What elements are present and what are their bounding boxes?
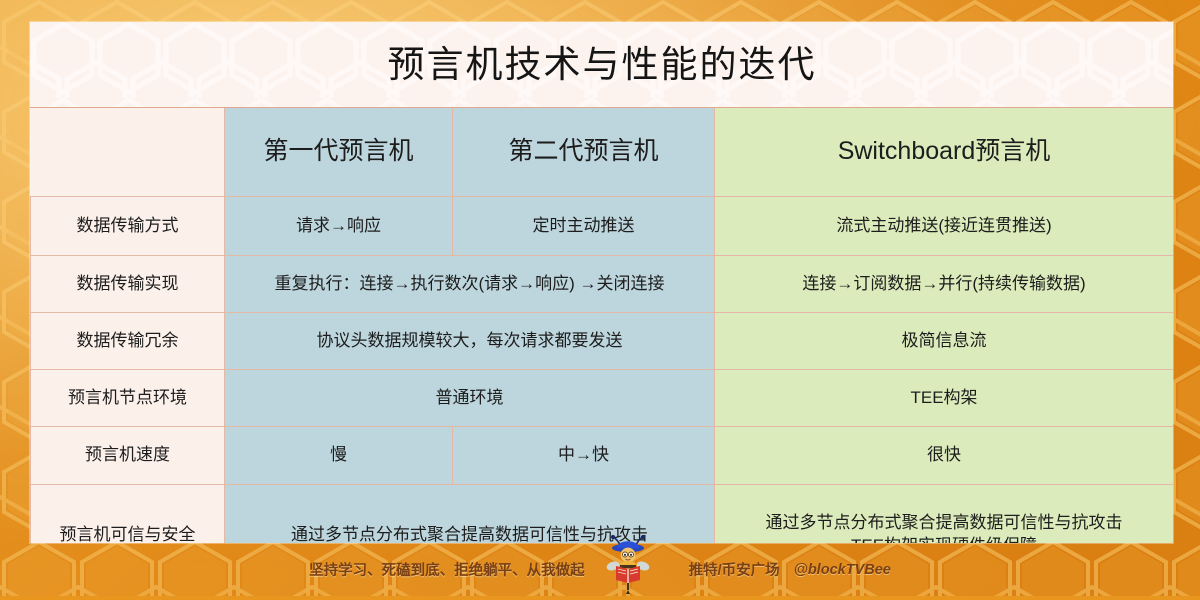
- table-row: 预言机节点环境 普通环境 TEE构架: [31, 370, 1174, 427]
- table-row: 数据传输实现 重复执行：连接→执行数次(请求→响应) →关闭连接 连接→订阅数据…: [31, 256, 1174, 313]
- table-row: 预言机速度 慢 中→快 很快: [31, 427, 1174, 485]
- page-title: 预言机技术与性能的迭代: [31, 23, 1174, 108]
- cell-gen-merged-transmission-impl: 重复执行：连接→执行数次(请求→响应) →关闭连接: [225, 256, 715, 313]
- bee-mascot-icon: [605, 533, 651, 595]
- table-header-row: 第一代预言机 第二代预言机 Switchboard预言机: [31, 108, 1174, 197]
- table-row: 预言机可信与安全 通过多节点分布式聚合提高数据可信性与抗攻击 通过多节点分布式聚…: [31, 485, 1174, 544]
- header-corner-cell: [31, 108, 225, 197]
- footer-bar: 坚持学习、死磕到底、拒绝躺平、从我做起: [0, 543, 1200, 596]
- cell-switchboard-transmission-redundancy: 极简信息流: [715, 313, 1174, 370]
- cell-gen1-oracle-speed: 慢: [225, 427, 453, 485]
- row-label-node-environment: 预言机节点环境: [31, 370, 225, 427]
- table-row: 数据传输方式 请求→响应 定时主动推送 流式主动推送(接近连贯推送): [31, 197, 1174, 256]
- row-label-transmission-mode: 数据传输方式: [31, 197, 225, 256]
- footer-handle: @blockTVBee: [794, 562, 891, 578]
- cell-switchboard-transmission-impl: 连接→订阅数据→并行(持续传输数据): [715, 256, 1174, 313]
- comparison-table: 预言机技术与性能的迭代 第一代预言机 第二代预言机 Switchboard预言机…: [30, 22, 1173, 543]
- header-switchboard: Switchboard预言机: [715, 108, 1174, 197]
- cell-gen-merged-node-environment: 普通环境: [225, 370, 715, 427]
- cell-gen1-transmission-mode: 请求→响应: [225, 197, 453, 256]
- table-title-row: 预言机技术与性能的迭代: [31, 23, 1174, 108]
- cell-switchboard-trust-security: 通过多节点分布式聚合提高数据可信性与抗攻击 TEE构架实现硬件级保障: [715, 485, 1174, 544]
- footer-channel: 推特/币安广场: [689, 559, 780, 580]
- cell-switchboard-oracle-speed: 很快: [715, 427, 1174, 485]
- cell-switchboard-trust-security-line2: TEE构架实现硬件级保障: [721, 535, 1167, 543]
- cell-gen2-transmission-mode: 定时主动推送: [453, 197, 715, 256]
- header-gen2: 第二代预言机: [453, 108, 715, 197]
- footer-slogan: 坚持学习、死磕到底、拒绝躺平、从我做起: [309, 559, 585, 580]
- row-label-transmission-redundancy: 数据传输冗余: [31, 313, 225, 370]
- header-gen1: 第一代预言机: [225, 108, 453, 197]
- cell-switchboard-transmission-mode: 流式主动推送(接近连贯推送): [715, 197, 1174, 256]
- comparison-card: 预言机技术与性能的迭代 第一代预言机 第二代预言机 Switchboard预言机…: [30, 22, 1173, 543]
- cell-gen2-oracle-speed: 中→快: [453, 427, 715, 485]
- cell-gen-merged-transmission-redundancy: 协议头数据规模较大，每次请求都要发送: [225, 313, 715, 370]
- cell-switchboard-node-environment: TEE构架: [715, 370, 1174, 427]
- row-label-oracle-speed: 预言机速度: [31, 427, 225, 485]
- cell-switchboard-trust-security-line1: 通过多节点分布式聚合提高数据可信性与抗攻击: [721, 512, 1167, 535]
- row-label-transmission-impl: 数据传输实现: [31, 256, 225, 313]
- row-label-trust-security: 预言机可信与安全: [31, 485, 225, 544]
- page-title-text: 预言机技术与性能的迭代: [388, 43, 817, 86]
- table-row: 数据传输冗余 协议头数据规模较大，每次请求都要发送 极简信息流: [31, 313, 1174, 370]
